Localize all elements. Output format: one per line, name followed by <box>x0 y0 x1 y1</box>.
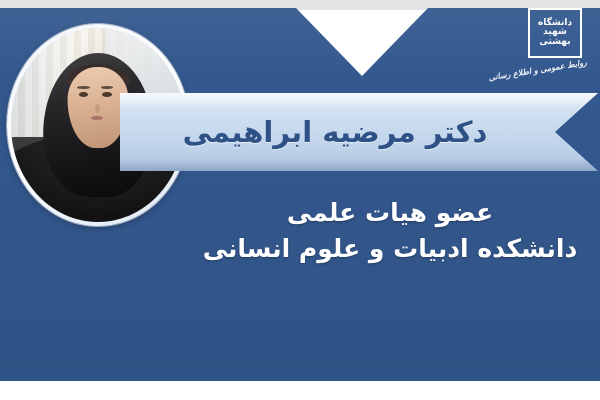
public-relations-caption: روابط عمومی و اطلاع رسانی <box>487 58 587 83</box>
university-logo-mark-text: دانشگاه شهید بهشتی <box>530 10 580 56</box>
page-title: دکتر مرضیه ابراهیمی <box>120 93 550 171</box>
name-ribbon: دکتر مرضیه ابراهیمی <box>120 93 598 171</box>
university-logo-icon: دانشگاه شهید بهشتی <box>528 8 582 58</box>
subtitle-block: عضو هیات علمی دانشکده ادبیات و علوم انسا… <box>190 196 590 266</box>
subtitle-line-faculty: دانشکده ادبیات و علوم انسانی <box>190 232 590 266</box>
faculty-profile-card: دکتر مرضیه ابراهیمی عضو هیات علمی دانشکد… <box>0 0 600 400</box>
university-logo: دانشگاه شهید بهشتی روابط عمومی و اطلاع ر… <box>484 6 588 90</box>
subtitle-line-position: عضو هیات علمی <box>190 196 590 230</box>
